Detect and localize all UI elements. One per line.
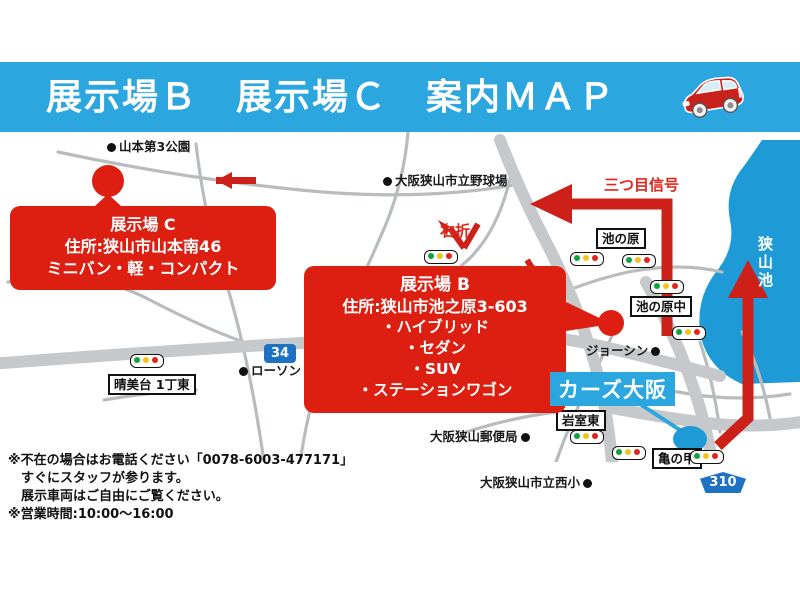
exhibit-c-cars: ミニバン・軽・コンパクト [10, 258, 276, 280]
traffic-signal-icon [690, 450, 724, 464]
map-page: 展示場Ｂ 展示場Ｃ 案内ＭＡＰ [0, 0, 800, 600]
black-dot-icon [239, 367, 248, 376]
signal-name-line2: 1丁東 [156, 377, 190, 392]
traffic-signal-icon [672, 326, 706, 340]
route-shield-310: 310 [700, 472, 746, 493]
traffic-signal-icon [570, 430, 604, 444]
red-arrow-left-top [216, 172, 256, 189]
black-dot-icon [583, 479, 592, 488]
poi-lawson: ローソン [236, 364, 301, 378]
route-shield-34: 34 [264, 344, 296, 363]
signal-name-harumidai: 晴美台 1丁東 [108, 374, 196, 395]
exhibit-b-item-3: ・ステーションワゴン [304, 380, 566, 401]
black-dot-icon [521, 433, 530, 442]
black-dot-icon [107, 143, 116, 152]
traffic-signal-icon [622, 254, 656, 268]
traffic-signal-icon [424, 250, 458, 264]
traffic-signal-icon [130, 354, 164, 368]
map-canvas: 山本第3公園 大阪狭山市立野球場 ローソン ジョーシン 大阪狭山郵便局 大阪狭山… [0, 132, 800, 462]
exhibit-c-address: 住所:狭山市山本南46 [10, 236, 276, 258]
signal-name-iwamurohigashi: 岩室東 [556, 410, 606, 431]
poi-nishi-elementary: 大阪狭山市立西小 [480, 476, 595, 490]
signal-name-ikenohara: 池の原 [596, 228, 646, 249]
callout-exhibit-c: 展示場 C 住所:狭山市山本南46 ミニバン・軽・コンパクト [10, 206, 276, 290]
exhibit-b-marker [598, 310, 624, 336]
red-car-icon [676, 72, 750, 124]
black-dot-icon [651, 347, 660, 356]
footer-line-1: ※不在の場合はお電話ください「0078-6003-477171」 [8, 452, 428, 470]
exhibit-b-item-2: ・SUV [304, 359, 566, 380]
signal-name-line1: 晴美台 [114, 377, 152, 392]
exhibit-b-title: 展示場 B [304, 275, 566, 296]
footer-line-4: ※営業時間:10:00～16:00 [8, 506, 428, 524]
exhibit-b-item-1: ・セダン [304, 338, 566, 359]
annotation-turn-right: 右折 [440, 220, 470, 241]
traffic-signal-icon [612, 446, 646, 460]
lake-label: 狭山池 [756, 236, 773, 290]
footer-notes: ※不在の場合はお電話ください「0078-6003-477171」 すぐにスタッフ… [8, 452, 428, 524]
exhibit-c-marker [92, 165, 124, 197]
exhibit-c-title: 展示場 C [10, 214, 276, 236]
poi-yamamoto-park: 山本第3公園 [104, 140, 190, 154]
footer-line-3: 展示車両はご自由にご覧ください。 [8, 488, 428, 506]
callout-exhibit-b: 展示場 B 住所:狭山市池之原3-603 ・ハイブリッド ・セダン ・SUV ・… [304, 266, 566, 413]
black-dot-icon [383, 177, 392, 186]
poi-baseball-stadium: 大阪狭山市立野球場 [380, 174, 508, 188]
traffic-signal-icon [650, 280, 684, 294]
footer-line-2: すぐにスタッフが参ります。 [8, 470, 428, 488]
page-title: 展示場Ｂ 展示場Ｃ 案内ＭＡＰ [46, 74, 666, 122]
exhibit-b-address: 住所:狭山市池之原3-603 [304, 296, 566, 317]
traffic-signal-icon [570, 252, 604, 266]
destination-banner: カーズ大阪 [550, 372, 675, 406]
poi-joshin: ジョーシン [586, 344, 663, 358]
signal-name-ikenohara-naka: 池の原中 [630, 296, 692, 317]
exhibit-b-item-0: ・ハイブリッド [304, 317, 566, 338]
annotation-three-signals: 三つ目信号 [604, 174, 679, 195]
poi-post-office: 大阪狭山郵便局 [430, 430, 533, 444]
